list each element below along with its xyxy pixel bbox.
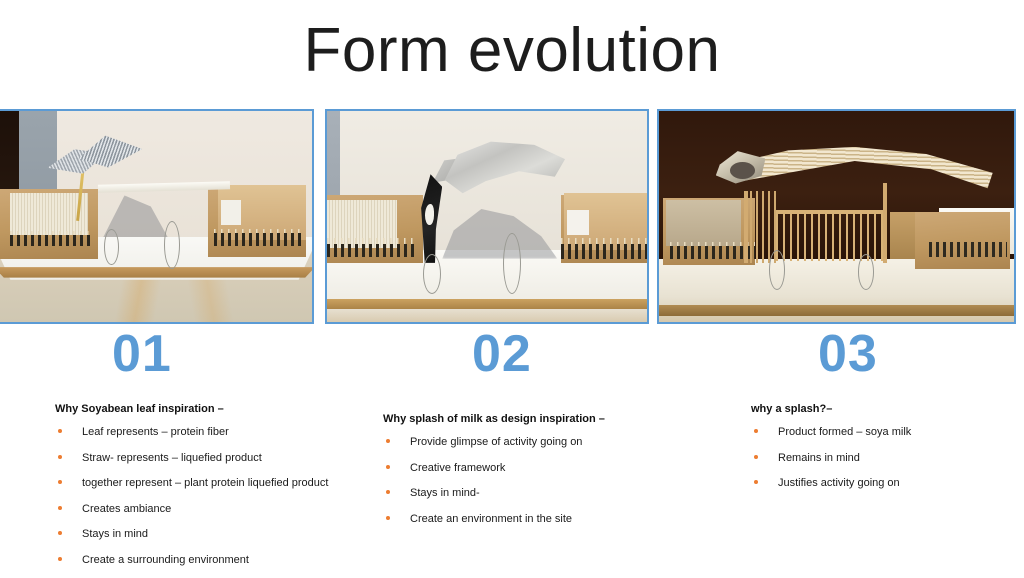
list-item: Provide glimpse of activity going on <box>383 435 658 450</box>
list-item: Stays in mind- <box>383 486 658 501</box>
model-left-screen <box>666 200 741 246</box>
page-title: Form evolution <box>0 12 1024 90</box>
list-item: Justifies activity going on <box>751 476 1001 491</box>
block-heading: why a splash?– <box>751 402 1001 416</box>
model-right-planter <box>915 212 1011 269</box>
scene-02 <box>327 111 647 322</box>
model-photo-01[interactable] <box>0 109 314 324</box>
list-item: Product formed – soya milk <box>751 425 1001 440</box>
list-item: Create a surrounding environment <box>55 553 335 568</box>
step-number-03: 03 <box>818 328 878 380</box>
slide-canvas: Form evolution <box>0 0 1024 576</box>
model-photo-03[interactable] <box>657 109 1016 324</box>
list-item: Remains in mind <box>751 451 1001 466</box>
model-stalk-highlight <box>425 204 435 225</box>
model-nozzle-opening <box>730 162 755 179</box>
block-heading: Why splash of milk as design inspiration… <box>383 412 658 426</box>
list-item: Create an environment in the site <box>383 512 658 527</box>
list-item: together represent – plant protein lique… <box>55 476 335 491</box>
model-post-right <box>883 183 887 263</box>
text-block-01: Why Soyabean leaf inspiration – Leaf rep… <box>55 402 335 578</box>
model-left-plants <box>327 244 417 257</box>
scale-figure <box>503 233 521 294</box>
text-block-02: Why splash of milk as design inspiration… <box>383 412 658 537</box>
list-item: Straw- represents – liquefied product <box>55 451 335 466</box>
bullet-list: Provide glimpse of activity going on Cre… <box>383 435 658 526</box>
scene-01 <box>0 111 312 322</box>
list-item: Leaf represents – protein fiber <box>55 425 335 440</box>
bullet-list: Product formed – soya milk Remains in mi… <box>751 425 1001 491</box>
model-base-edge <box>0 267 312 278</box>
list-item: Stays in mind <box>55 527 335 542</box>
model-photo-02[interactable] <box>325 109 649 324</box>
model-left-plants <box>10 235 92 246</box>
model-base-edge <box>659 305 1014 316</box>
model-right-plants <box>561 244 647 259</box>
model-slat-fence <box>776 210 883 261</box>
scene-03 <box>659 111 1014 322</box>
list-item: Creates ambiance <box>55 502 335 517</box>
model-right-plants <box>214 233 302 246</box>
step-number-02: 02 <box>472 328 532 380</box>
model-post-left <box>744 191 748 263</box>
model-right-window <box>567 210 589 235</box>
bullet-list: Leaf represents – protein fiber Straw- r… <box>55 425 335 567</box>
scale-figure <box>164 221 180 269</box>
model-right-plants <box>929 242 1007 257</box>
model-base-edge <box>327 299 647 310</box>
block-heading: Why Soyabean leaf inspiration – <box>55 402 335 416</box>
step-number-01: 01 <box>112 328 172 380</box>
scale-figure <box>104 229 119 265</box>
model-right-window <box>221 200 241 225</box>
text-block-03: why a splash?– Product formed – soya mil… <box>751 402 1001 502</box>
scale-figure <box>858 254 874 290</box>
list-item: Creative framework <box>383 461 658 476</box>
model-left-plants <box>670 246 755 259</box>
